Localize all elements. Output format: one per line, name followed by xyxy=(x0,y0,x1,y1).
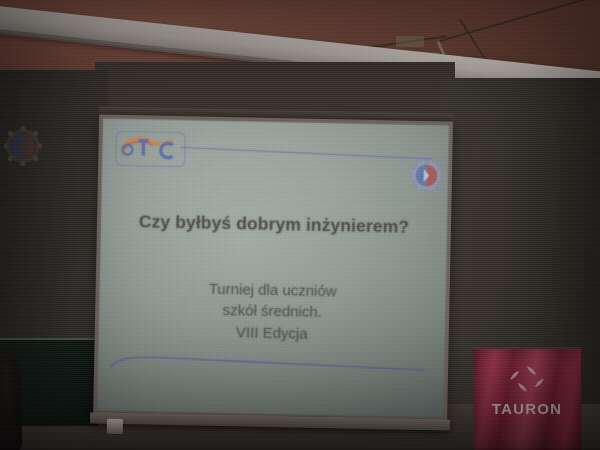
footer-divider-line xyxy=(108,355,426,375)
gear-seal-emblem xyxy=(410,159,444,193)
slide-title: Czy byłbyś dobrym inżynierem? xyxy=(101,211,447,239)
tauron-banner: TAURON xyxy=(473,347,581,450)
wall-gear-seal-emblem xyxy=(4,126,42,166)
tauron-brand-text: TAURON xyxy=(473,401,581,418)
screen-frame: Czy byłbyś dobrym inżynierem? Turniej dl… xyxy=(93,114,453,421)
header-divider-line xyxy=(181,147,433,160)
presentation-slide: Czy byłbyś dobrym inżynierem? Turniej dl… xyxy=(97,119,449,418)
itc-logo xyxy=(115,131,186,167)
slide-body: Turniej dla uczniów szkół średnich. VIII… xyxy=(99,277,446,348)
screen-pull-hook xyxy=(107,419,123,434)
projection-screen: Czy byłbyś dobrym inżynierem? Turniej dl… xyxy=(93,114,453,431)
photo-scene: Czy byłbyś dobrym inżynierem? Turniej dl… xyxy=(0,0,600,450)
truss-bracket-2 xyxy=(396,36,424,47)
tauron-pinwheel-logo xyxy=(507,363,547,395)
